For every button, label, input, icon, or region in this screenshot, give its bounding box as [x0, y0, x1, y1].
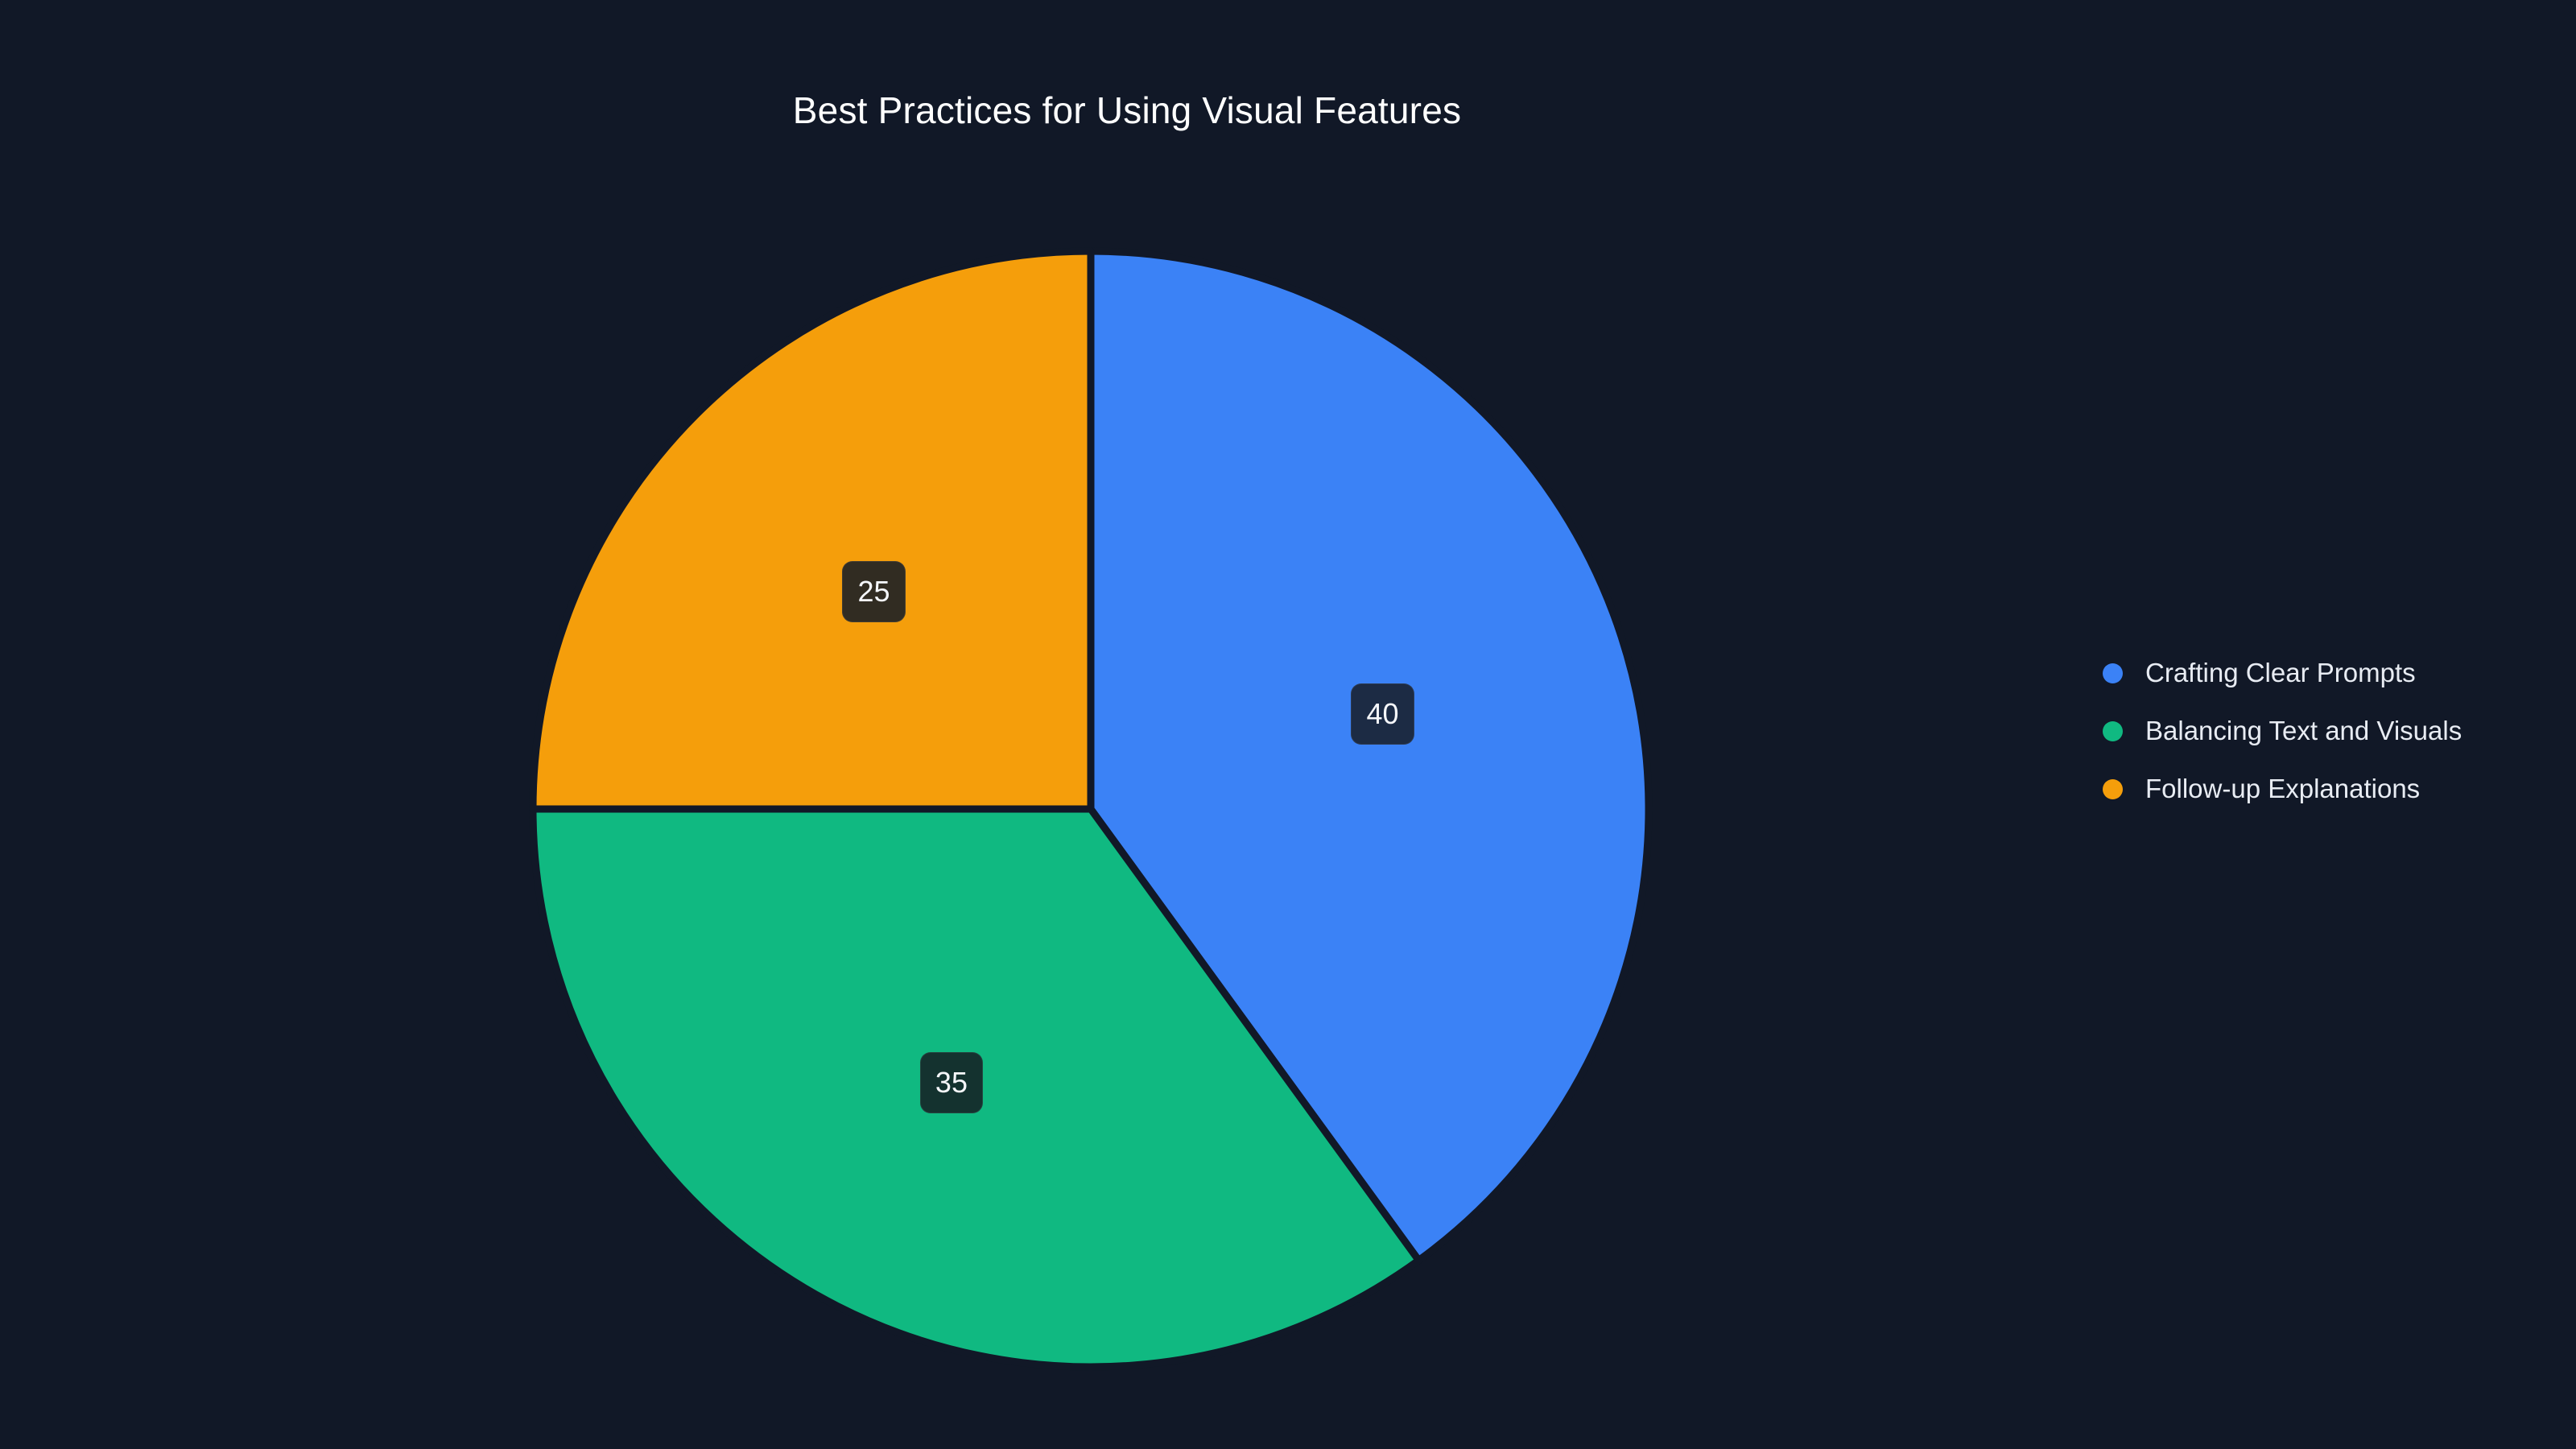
- legend-item-label: Crafting Clear Prompts: [2145, 658, 2416, 688]
- legend-item-label: Follow-up Explanations: [2145, 774, 2420, 804]
- data-label-balancing-text-and-visuals: 35: [920, 1052, 983, 1113]
- circle-marker-icon: [2103, 721, 2123, 741]
- circle-marker-icon: [2103, 779, 2123, 799]
- pie-slices: [533, 251, 1649, 1367]
- chart-legend: Crafting Clear Prompts Balancing Text an…: [2103, 644, 2462, 818]
- legend-item-follow-up-explanations[interactable]: Follow-up Explanations: [2103, 760, 2462, 818]
- chart-canvas: Best Practices for Using Visual Features…: [0, 0, 2576, 1449]
- legend-item-balancing-text-and-visuals[interactable]: Balancing Text and Visuals: [2103, 702, 2462, 760]
- legend-item-label: Balancing Text and Visuals: [2145, 716, 2462, 746]
- data-label-crafting-clear-prompts: 40: [1351, 683, 1414, 745]
- pie-slice-follow-up-explanations[interactable]: [533, 251, 1091, 809]
- legend-item-crafting-clear-prompts[interactable]: Crafting Clear Prompts: [2103, 644, 2462, 702]
- circle-marker-icon: [2103, 663, 2123, 683]
- data-label-follow-up-explanations: 25: [842, 561, 905, 622]
